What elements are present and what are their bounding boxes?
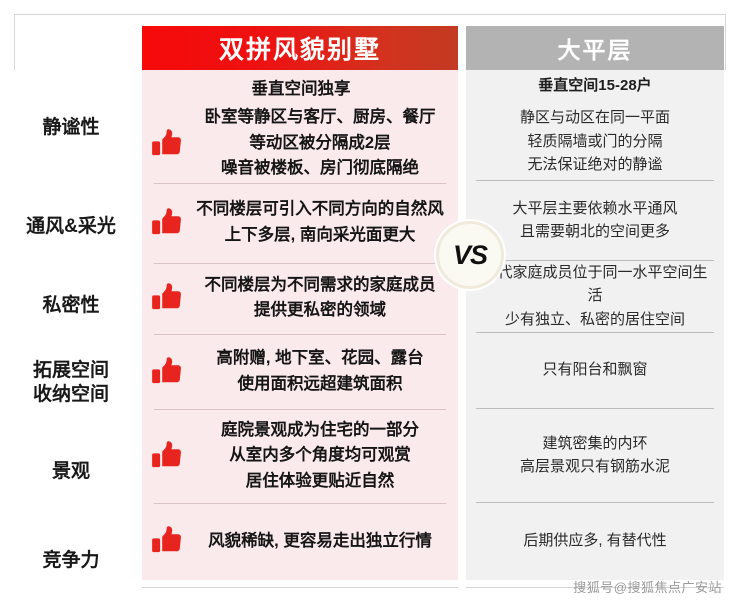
- header-left-title: 双拼风貌别墅: [142, 26, 458, 70]
- comparison-infographic: 双拼风貌别墅 大平层 静谧性 通风&采光 私密性 拓展空间 收纳空间: [0, 0, 740, 602]
- thumbs-up-icon: [150, 524, 184, 558]
- villa-cell-tongfeng-caiguang: 不同楼层可引入不同方向的自然风 上下多层, 南向采光面更大: [142, 183, 458, 262]
- comparison-table: 双拼风貌别墅 大平层 静谧性 通风&采光 私密性 拓展空间 收纳空间: [0, 0, 740, 602]
- flat-cell-text: 三代家庭成员位于同一水平空间生活 少有独立、私密的居住空间: [476, 261, 714, 331]
- villa-cell-jingmixing: 垂直空间独享 卧室等静区与客厅、厨房、餐厅 等动区被分隔成2层 噪音被楼板、房门…: [142, 70, 458, 183]
- thumbs-up-icon: [150, 127, 184, 161]
- flat-text-line: 只有阳台和飘窗: [542, 361, 647, 378]
- header-right-pad: [724, 26, 740, 70]
- villa-cell-jingzhengli: 风貌稀缺, 更容易走出独立行情: [142, 503, 458, 580]
- flat-text-line: 静区与动区在同一平面: [520, 109, 670, 126]
- villa-cell-text: 风貌稀缺, 更容易走出独立行情: [188, 529, 452, 555]
- flat-text-line: 高层景观只有钢筋水泥: [520, 458, 670, 475]
- row-label-text: 竞争力: [42, 550, 99, 571]
- header-label-spacer: [0, 26, 142, 70]
- villa-text-line: 卧室等静区与客厅、厨房、餐厅: [205, 108, 436, 126]
- villa-text-line: 不同楼层为不同需求的家庭成员: [205, 276, 436, 294]
- row-label-text-line2: 收纳空间: [33, 384, 109, 405]
- header-right-title-text: 大平层: [558, 31, 633, 65]
- flat-cell-text: 后期供应多, 有替代性: [523, 529, 666, 552]
- row-label-column: 静谧性 通风&采光 私密性 拓展空间 收纳空间 景观 竞争力: [0, 70, 142, 602]
- flat-text-line: 三代家庭成员位于同一水平空间生活: [482, 264, 707, 304]
- villa-cell-text: 不同楼层可引入不同方向的自然风 上下多层, 南向采光面更大: [188, 197, 452, 248]
- flat-column: 垂直空间15-28户 静区与动区在同一平面 轻质隔墙或门的分隔 无法保证绝对的静…: [466, 70, 724, 580]
- thumbs-up-icon: [150, 206, 184, 240]
- row-label-text: 私密性: [42, 295, 99, 316]
- header-column-gap: [458, 26, 466, 70]
- flat-cell-simixing: 三代家庭成员位于同一水平空间生活 少有独立、私密的居住空间: [466, 260, 724, 332]
- flat-cell-tongfeng-caiguang: 大平层主要依赖水平通风 且需要朝北的空间更多: [466, 180, 724, 260]
- row-label-tuozhan-kongjian: 拓展空间 收纳空间: [0, 343, 142, 422]
- flat-text-line: 后期供应多, 有替代性: [523, 532, 666, 549]
- villa-cell-simixing: 不同楼层为不同需求的家庭成员 提供更私密的领域: [142, 263, 458, 334]
- row-label-text: 拓展空间: [33, 360, 109, 381]
- right-pad: [724, 70, 740, 602]
- villa-cell-text: 庭院景观成为住宅的一部分 从室内多个角度均可观赏 居住体验更贴近自然: [188, 418, 452, 495]
- villa-cell-text: 高附赠, 地下室、花园、露台 使用面积远超建筑面积: [188, 346, 452, 397]
- villa-cell-jingguan: 庭院景观成为住宅的一部分 从室内多个角度均可观赏 居住体验更贴近自然: [142, 409, 458, 502]
- row-label-jingguan: 景观: [0, 423, 142, 521]
- thumbs-up-icon: [150, 355, 184, 389]
- watermark: 搜狐号@搜狐焦点广安站: [573, 577, 722, 596]
- villa-text-line: 庭院景观成为住宅的一部分: [221, 421, 419, 439]
- header-right-title: 大平层: [466, 26, 724, 70]
- flat-cell-text: 垂直空间15-28户 静区与动区在同一平面 轻质隔墙或门的分隔 无法保证绝对的静…: [520, 74, 670, 176]
- thumbs-up-icon: [150, 281, 184, 315]
- villa-cell-tuozhan-kongjian: 高附赠, 地下室、花园、露台 使用面积远超建筑面积: [142, 334, 458, 409]
- villa-text-line: 上下多层, 南向采光面更大: [225, 226, 416, 244]
- row-label-text: 通风&采光: [26, 216, 116, 237]
- villa-cell-body: 卧室等静区与客厅、厨房、餐厅 等动区被分隔成2层 噪音被楼板、房门彻底隔绝: [150, 105, 452, 182]
- flat-text-line: 轻质隔墙或门的分隔: [527, 133, 662, 150]
- vs-badge: VS: [436, 221, 504, 289]
- villa-column: 垂直空间独享 卧室等静区与客厅、厨房、餐厅 等动区被分隔成2层 噪音被楼板、房门…: [142, 70, 458, 580]
- flat-cell-text: 大平层主要依赖水平通风 且需要朝北的空间更多: [512, 197, 677, 244]
- villa-text-line: 使用面积远超建筑面积: [238, 375, 403, 393]
- villa-text-line: 不同楼层可引入不同方向的自然风: [196, 200, 444, 218]
- header-left-title-text: 双拼风貌别墅: [219, 30, 381, 66]
- flat-cell-jingmixing: 垂直空间15-28户 静区与动区在同一平面 轻质隔墙或门的分隔 无法保证绝对的静…: [466, 70, 724, 180]
- flat-cell-lead: 垂直空间15-28户: [520, 74, 670, 97]
- villa-text-line: 风貌稀缺, 更容易走出独立行情: [208, 532, 432, 550]
- row-label-jingzhengli: 竞争力: [0, 521, 142, 602]
- vs-badge-label: VS: [453, 240, 487, 271]
- villa-text-line: 噪音被楼板、房门彻底隔绝: [221, 159, 419, 177]
- flat-cell-text: 只有阳台和飘窗: [542, 358, 647, 381]
- villa-cell-lead: 垂直空间独享: [150, 75, 452, 99]
- row-label-text: 景观: [52, 461, 90, 482]
- villa-text-line: 等动区被分隔成2层: [249, 134, 390, 152]
- flat-text-line: 且需要朝北的空间更多: [520, 223, 670, 240]
- villa-text-line: 高附赠, 地下室、花园、露台: [216, 349, 423, 367]
- column-gap: [458, 70, 466, 602]
- flat-text-line: 少有独立、私密的居住空间: [505, 311, 685, 328]
- flat-cell-jingguan: 建筑密集的内环 高层景观只有钢筋水泥: [466, 408, 724, 502]
- flat-cell-tuozhan-kongjian: 只有阳台和飘窗: [466, 332, 724, 408]
- row-label-text: 静谧性: [42, 117, 99, 138]
- villa-text-line: 提供更私密的领域: [254, 301, 386, 319]
- flat-cell-jingzhengli: 后期供应多, 有替代性: [466, 502, 724, 580]
- villa-cell-text: 卧室等静区与客厅、厨房、餐厅 等动区被分隔成2层 噪音被楼板、房门彻底隔绝: [188, 105, 452, 182]
- villa-cell-text: 不同楼层为不同需求的家庭成员 提供更私密的领域: [188, 273, 452, 324]
- villa-text-line: 居住体验更贴近自然: [246, 472, 395, 490]
- flat-text-line: 大平层主要依赖水平通风: [512, 200, 677, 217]
- row-label-tongfeng-caiguang: 通风&采光: [0, 185, 142, 268]
- flat-text-line: 建筑密集的内环: [542, 435, 647, 452]
- row-label-simixing: 私密性: [0, 268, 142, 343]
- flat-text-line: 无法保证绝对的静谧: [527, 156, 662, 173]
- villa-text-line: 从室内多个角度均可观赏: [229, 446, 411, 464]
- flat-cell-text: 建筑密集的内环 高层景观只有钢筋水泥: [520, 432, 670, 479]
- thumbs-up-icon: [150, 439, 184, 473]
- row-label-jingmixing: 静谧性: [0, 70, 142, 185]
